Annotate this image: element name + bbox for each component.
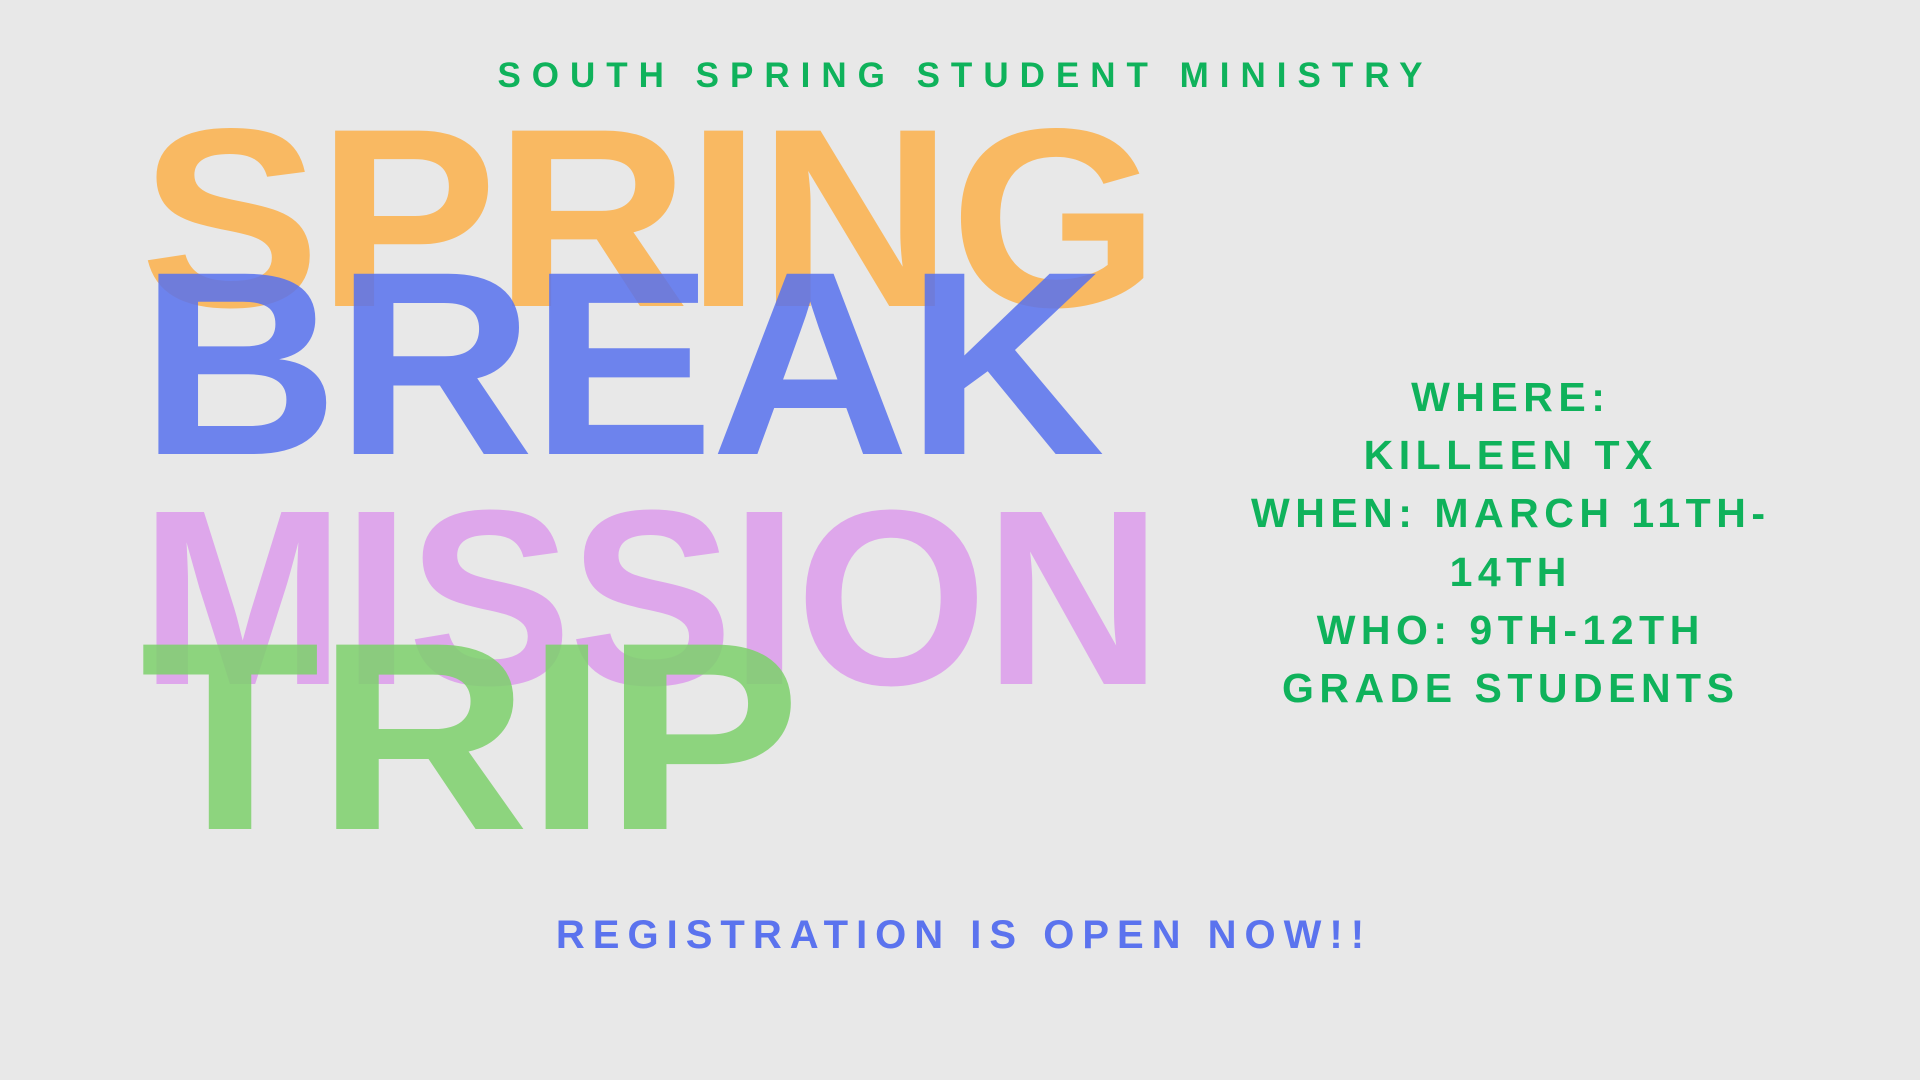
detail-line-where-value: KILLEEN TX — [1148, 426, 1868, 484]
event-details-block: WHERE: KILLEEN TX WHEN: MARCH 11TH- 14TH… — [1148, 368, 1868, 717]
detail-line-who-part2: GRADE STUDENTS — [1148, 659, 1868, 717]
detail-line-when-part1: WHEN: MARCH 11TH- — [1148, 484, 1868, 542]
detail-line-when-part2: 14TH — [1148, 543, 1868, 601]
title-word-trip: TRIP — [140, 632, 797, 841]
poster-canvas: SOUTH SPRING STUDENT MINISTRY SPRING BRE… — [0, 0, 1920, 1080]
registration-cta: REGISTRATION IS OPEN NOW!! — [0, 913, 1920, 958]
title-word-stack: SPRING BREAK MISSION TRIP — [140, 120, 1020, 900]
detail-line-where-label: WHERE: — [1148, 368, 1868, 426]
detail-line-who-part1: WHO: 9TH-12TH — [1148, 601, 1868, 659]
title-word-break: BREAK — [140, 262, 1102, 466]
